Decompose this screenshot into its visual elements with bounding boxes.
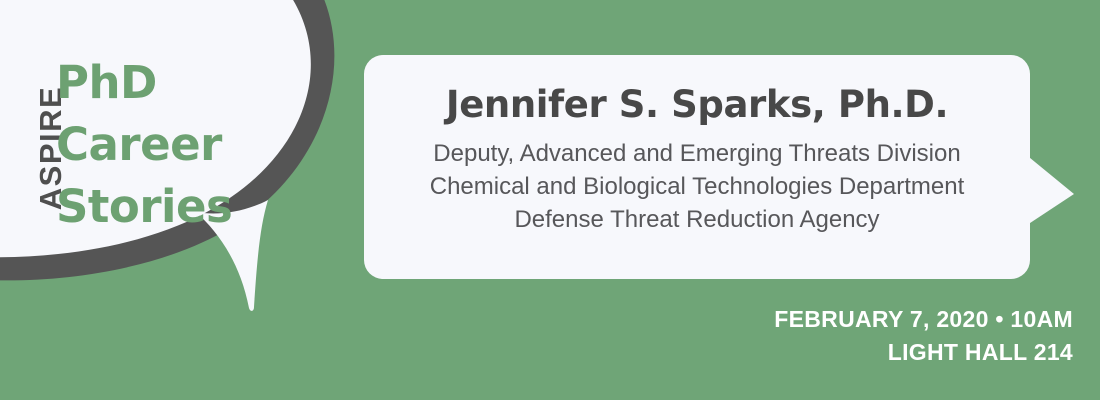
series-title-line-3: Stories <box>56 176 296 238</box>
affiliation-line-1: Deputy, Advanced and Emerging Threats Di… <box>382 137 1012 170</box>
series-title-line-2: Career <box>56 114 296 176</box>
event-flyer: ASPIRE PhD Career Stories Jennifer S. Sp… <box>0 0 1100 400</box>
series-title-line-1: PhD <box>56 52 296 114</box>
speaker-info: Jennifer S. Sparks, Ph.D. Deputy, Advanc… <box>364 55 1030 279</box>
event-datetime: FEBRUARY 7, 2020 • 10AM <box>774 303 1073 336</box>
speaker-affiliation: Deputy, Advanced and Emerging Threats Di… <box>382 137 1012 236</box>
affiliation-line-2: Chemical and Biological Technologies Dep… <box>382 170 1012 203</box>
aspire-logo: ASPIRE PhD Career Stories <box>0 0 360 330</box>
event-location: LIGHT HALL 214 <box>774 336 1073 369</box>
speaker-card: Jennifer S. Sparks, Ph.D. Deputy, Advanc… <box>364 55 1074 279</box>
card-tail-shape <box>1024 153 1074 227</box>
event-details: FEBRUARY 7, 2020 • 10AM LIGHT HALL 214 <box>774 303 1073 369</box>
affiliation-line-3: Defense Threat Reduction Agency <box>382 203 1012 236</box>
series-title: PhD Career Stories <box>56 52 296 238</box>
speaker-name: Jennifer S. Sparks, Ph.D. <box>382 82 1012 128</box>
